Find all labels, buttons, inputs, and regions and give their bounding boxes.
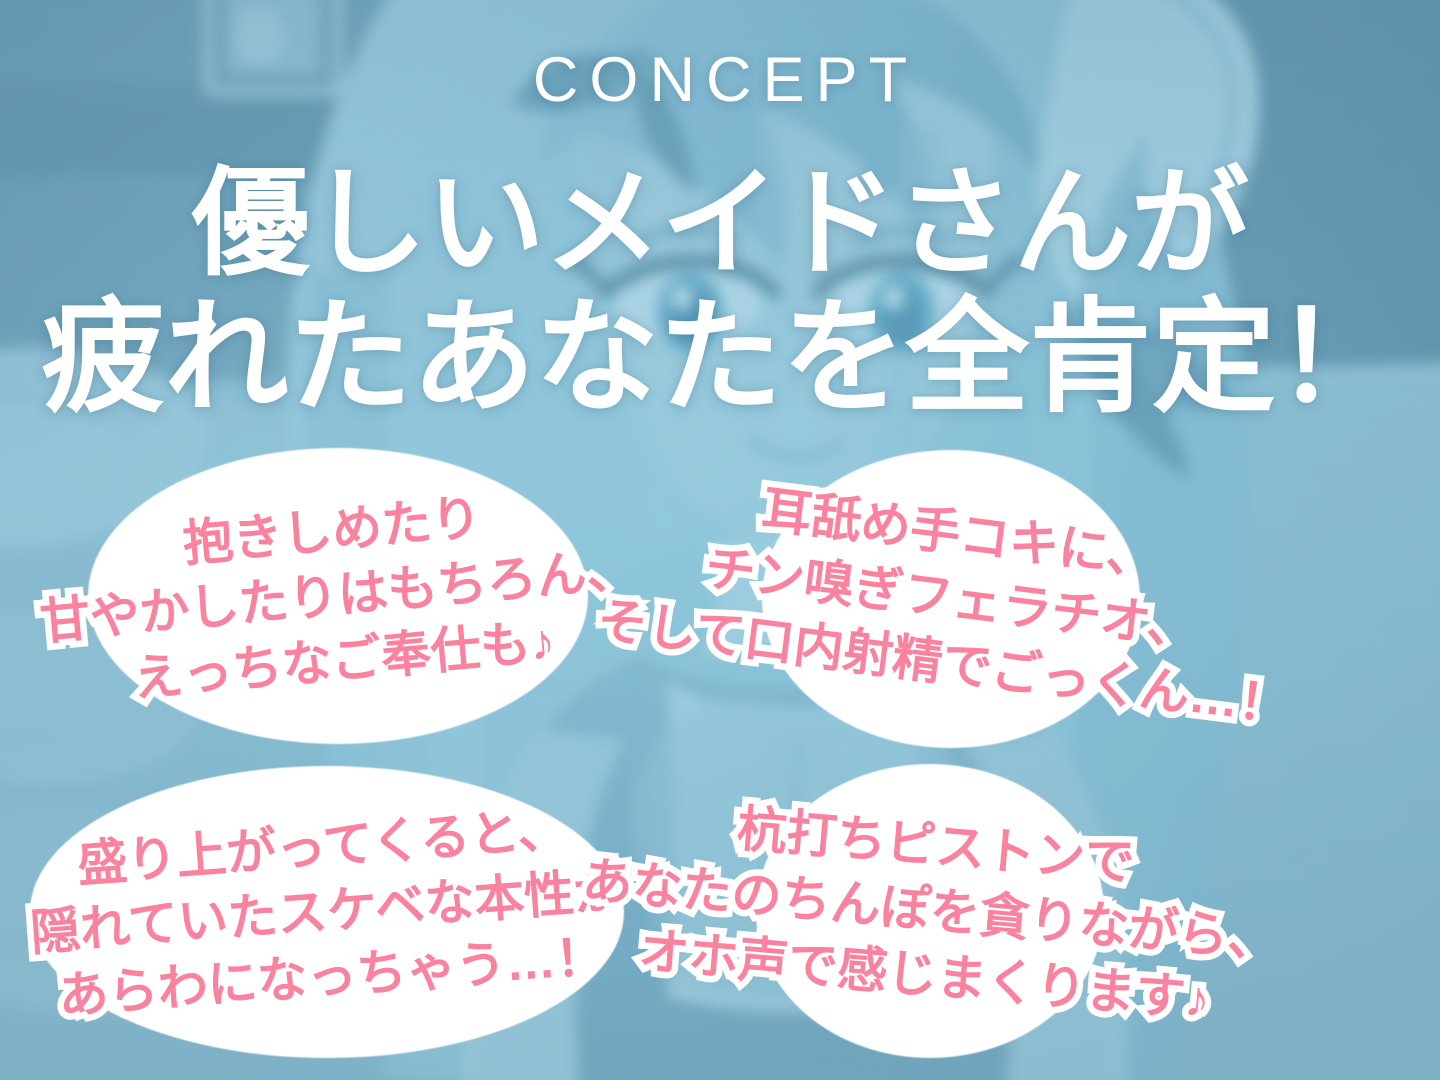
speech-bubble-bottom-right: 杭打ちピストンで あなたのちんぽを貪りながら、 オホ声で感じまくります♪ [756, 764, 1104, 1058]
bubble-text: 抱きしめたり 甘やかしたりはもちろん、 えっちなご奉仕も♪ [32, 472, 645, 720]
page-headline: 優しいメイドさんが 疲れたあなたを全肯定！ [0, 160, 1440, 426]
speech-bubble-top-right: 耳舐め手コキに、 チン嗅ぎフェラチオ、 そして口内射精でごっくん…！ [762, 450, 1140, 748]
concept-eyebrow-title: CONCEPT [0, 48, 1440, 112]
headline-line-1: 優しいメイドさんが [0, 160, 1440, 290]
speech-bubble-bottom-left: 盛り上がってくると、 隠れていたスケベな本性が あらわになっちゃう…！ [30, 766, 624, 1058]
speech-bubble-top-left: 抱きしめたり 甘やかしたりはもちろん、 えっちなご奉仕も♪ [88, 448, 588, 744]
concept-banner: CONCEPT 優しいメイドさんが 疲れたあなたを全肯定！ 抱きしめたり 甘やか… [0, 0, 1440, 1080]
headline-line-2: 疲れたあなたを全肯定！ [0, 290, 1440, 426]
